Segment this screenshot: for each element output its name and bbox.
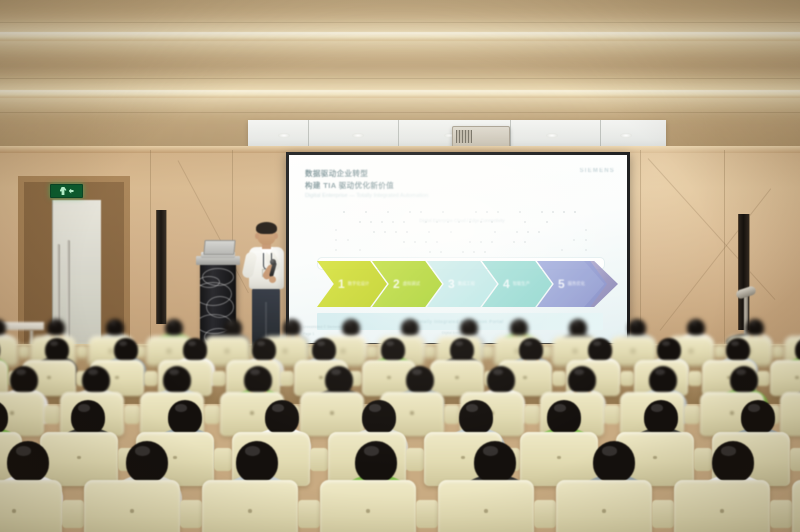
seat-armrest: [770, 500, 792, 528]
projector-icon: [452, 126, 510, 148]
auditorium-seat: [556, 480, 652, 532]
seat-armrest: [772, 345, 784, 358]
seat-armrest: [212, 371, 226, 386]
seat-armrest: [18, 345, 30, 358]
slide-content: 数据驱动企业转型 构建 TIA 驱动优化新价值 Digital Enterpri…: [289, 155, 627, 343]
seat-armrest: [310, 448, 328, 471]
seat-armrest: [604, 405, 620, 423]
seat-armrest: [790, 448, 800, 471]
auditorium-seat: [770, 360, 800, 396]
auditorium-seat: [40, 432, 118, 486]
seat-armrest: [280, 371, 294, 386]
cloud-label: Digital Enterprise Cloud / Edge Connecti…: [407, 217, 517, 224]
auditorium-seat: [780, 392, 800, 436]
seat-armrest: [204, 405, 220, 423]
seat-armrest: [406, 448, 424, 471]
audience-area: [0, 330, 800, 532]
seat-armrest: [366, 345, 378, 358]
seat-armrest: [714, 345, 726, 358]
auditorium-seat: [0, 360, 8, 396]
auditorium-seat: [792, 480, 800, 532]
brand-logo: SIEMENS: [580, 168, 615, 174]
seat-armrest: [416, 500, 438, 528]
seat-armrest: [180, 500, 202, 528]
seat-armrest: [620, 371, 634, 386]
projection-screen: 数据驱动企业转型 构建 TIA 驱动优化新价值 Digital Enterpri…: [286, 152, 630, 346]
wall-slot-left: [156, 210, 167, 324]
auditorium-seat: [202, 480, 298, 532]
seat-armrest: [44, 405, 60, 423]
seat-armrest: [62, 500, 84, 528]
cove-light: [0, 32, 800, 41]
seat-armrest: [76, 345, 88, 358]
auditorium-seat: [674, 480, 770, 532]
seat-armrest: [424, 345, 436, 358]
auditorium-seat: [438, 480, 534, 532]
seat-armrest: [482, 345, 494, 358]
seat-armrest: [688, 371, 702, 386]
cove-light: [0, 90, 800, 98]
seat-armrest: [534, 500, 556, 528]
auditorium-seat: [520, 432, 598, 486]
photo-scene: 数据驱动企业转型 构建 TIA 驱动优化新价值 Digital Enterpri…: [0, 0, 800, 532]
seat-armrest: [298, 500, 320, 528]
auditorium-seat: [300, 392, 364, 436]
auditorium-seat: [430, 360, 484, 396]
exit-sign: [50, 184, 83, 198]
seat-armrest: [694, 448, 712, 471]
laptop-screen: [203, 240, 235, 255]
auditorium-seat: [320, 480, 416, 532]
seat-armrest: [684, 405, 700, 423]
slide-subtitle: Digital Enterprise — Totally Integrated …: [305, 192, 515, 200]
seat-armrest: [144, 371, 158, 386]
auditorium-seat: [0, 480, 62, 532]
slide-title: 数据驱动企业转型 构建 TIA 驱动优化新价值: [305, 168, 535, 191]
seat-armrest: [444, 405, 460, 423]
seat-armrest: [124, 405, 140, 423]
seat-armrest: [652, 500, 674, 528]
side-table: [0, 322, 44, 330]
process-chevrons: 1数字化设计2虚拟调试3集成工程4智能生产5服务优化: [317, 261, 603, 307]
seat-armrest: [524, 405, 540, 423]
seat-armrest: [552, 371, 566, 386]
seat-armrest: [214, 448, 232, 471]
auditorium-seat: [84, 480, 180, 532]
process-step-1: 1数字化设计: [317, 261, 387, 307]
